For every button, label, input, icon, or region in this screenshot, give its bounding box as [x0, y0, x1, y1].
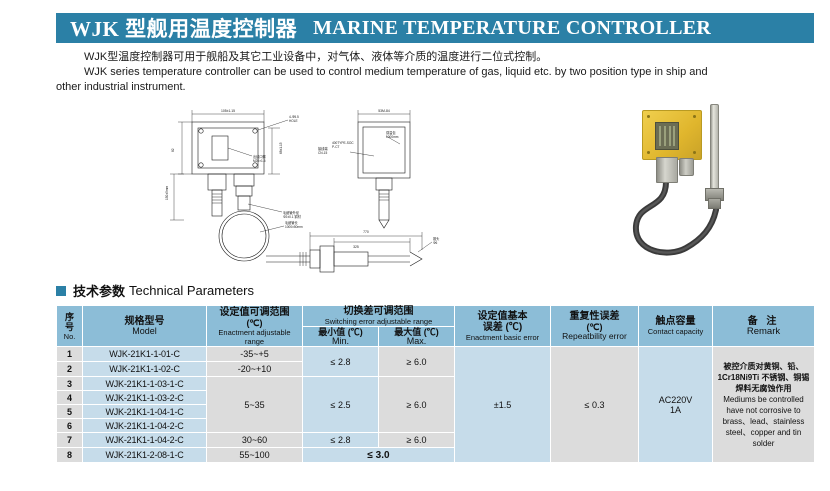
cell-set-range: 30~60: [207, 433, 303, 448]
dimension-drawing: 105±1.15 53M-84 325 770 4-Φ5.5HOLE 出线口螺M…: [160, 100, 490, 275]
cell-no: 6: [57, 419, 83, 433]
temperature-probe: [710, 104, 719, 192]
cell-set-range: 5~35: [207, 377, 303, 433]
table-row: 1 WJK-21K1-1-01-C -35~+5 ≤ 2.8 ≥ 6.0 ±1.…: [57, 347, 815, 362]
description-line-en-2: other industrial instrument.: [56, 80, 820, 95]
cable-gland: [679, 158, 694, 176]
section-heading-en: Technical Parameters: [129, 283, 254, 298]
section-heading: 技术参数 Technical Parameters: [56, 281, 254, 300]
figures-area: 105±1.15 53M-84 325 770 4-Φ5.5HOLE 出线口螺M…: [56, 100, 820, 275]
cell-model: WJK-21K1-1-02-C: [83, 362, 207, 377]
cell-no: 8: [57, 448, 83, 463]
cell-switch-max: ≥ 6.0: [379, 347, 455, 377]
svg-text:82: 82: [171, 148, 175, 152]
header-switch-max: 最大值 (℃) Max.: [379, 327, 455, 347]
svg-text:P-CT: P-CT: [332, 145, 339, 149]
page-title-en: MARINE TEMPERATURE CONTROLLER: [313, 17, 711, 40]
cell-switch-min: ≤ 2.5: [303, 377, 379, 433]
cell-contact-capacity: AC220V 1A: [639, 347, 713, 463]
cell-no: 2: [57, 362, 83, 377]
header-no: 序 号 No.: [57, 306, 83, 347]
cell-no: 7: [57, 433, 83, 448]
cell-switch-min: ≤ 2.8: [303, 347, 379, 377]
svg-text:150±5mm: 150±5mm: [165, 186, 169, 200]
cell-model: WJK-21K1-1-03-2-C: [83, 391, 207, 405]
housing-window: [655, 122, 679, 150]
page-title-cn: WJK 型舰用温度控制器: [70, 13, 297, 43]
svg-text:HOLE: HOLE: [289, 119, 298, 123]
header-switch-min: 最小值 (℃) Min.: [303, 327, 379, 347]
cell-model: WJK-21K1-1-04-1-C: [83, 405, 207, 419]
cell-switch-max: ≥ 6.0: [379, 377, 455, 433]
header-remark: 备 注 Remark: [713, 306, 815, 347]
cell-model: WJK-21K1-1-01-C: [83, 347, 207, 362]
table-header-row-1: 序 号 No. 规格型号 Model 设定值可调范围 (℃) Enactment…: [57, 306, 815, 327]
svg-text:Φ2±0.1 铜材: Φ2±0.1 铜材: [283, 214, 302, 219]
product-photo: [616, 102, 766, 274]
cell-basic-error: ±1.5: [455, 347, 551, 463]
description-line-cn: WJK型温度控制器可用于舰船及其它工业设备中，对气体、液体等介质的温度进行二位式…: [56, 50, 820, 65]
svg-text:CN-15: CN-15: [318, 151, 327, 155]
section-heading-cn: 技术参数: [73, 281, 125, 300]
svg-text:325: 325: [353, 245, 359, 249]
cell-no: 1: [57, 347, 83, 362]
cell-switch-max: ≥ 6.0: [379, 433, 455, 448]
cell-set-range: 55~100: [207, 448, 303, 463]
svg-text:770: 770: [363, 230, 369, 234]
svg-text:1000mm: 1000mm: [386, 135, 399, 139]
page-title-banner: WJK 型舰用温度控制器 MARINE TEMPERATURE CONTROLL…: [56, 13, 814, 43]
header-repeatability: 重复性误差 (℃) Repeatbility error: [551, 306, 639, 347]
header-switching-error: 切换差可调范围 Switching error adjustable range: [303, 306, 455, 327]
header-contact-capacity: 触点容量 Contact capacity: [639, 306, 713, 347]
cell-set-range: -35~+5: [207, 347, 303, 362]
bullet-square-icon: [56, 286, 66, 296]
header-basic-error: 设定值基本 误差 (℃) Enactment basic error: [455, 306, 551, 347]
cell-remark: 被控介质对黄铜、铅、1Cr18Ni9Ti 不锈钢、铜锡焊料无腐蚀作用 Mediu…: [713, 347, 815, 463]
probe-nut-lower: [708, 198, 721, 209]
svg-text:Φ6: Φ6: [433, 241, 438, 245]
svg-text:105±1.15: 105±1.15: [221, 109, 235, 113]
cell-no: 5: [57, 405, 83, 419]
cell-no: 4: [57, 391, 83, 405]
housing-neck: [656, 157, 678, 183]
cell-switch-min: ≤ 2.8: [303, 433, 379, 448]
cell-model: WJK-21K1-1-04-2-C: [83, 419, 207, 433]
cell-set-range: -20~+10: [207, 362, 303, 377]
cell-model: WJK-21K1-1-03-1-C: [83, 377, 207, 391]
technical-parameters-table: 序 号 No. 规格型号 Model 设定值可调范围 (℃) Enactment…: [56, 305, 815, 463]
description-line-en-1: WJK series temperature controller can be…: [56, 65, 820, 80]
cell-model: WJK-21K1-2-08-1-C: [83, 448, 207, 463]
header-model: 规格型号 Model: [83, 306, 207, 347]
cell-repeatability: ≤ 0.3: [551, 347, 639, 463]
cell-model: WJK-21K1-1-04-2-C: [83, 433, 207, 448]
svg-text:68±1.15: 68±1.15: [279, 142, 283, 154]
cell-switch-merged: ≤ 3.0: [303, 448, 455, 463]
svg-text:M20×1.5: M20×1.5: [253, 159, 266, 163]
svg-text:53M-84: 53M-84: [378, 109, 390, 113]
controller-housing: [642, 110, 702, 160]
header-set-range: 设定值可调范围 (℃) Enactment adjustable range: [207, 306, 303, 347]
svg-text:1000±50mm: 1000±50mm: [285, 225, 303, 229]
cell-no: 3: [57, 377, 83, 391]
product-description: WJK型温度控制器可用于舰船及其它工业设备中，对气体、液体等介质的温度进行二位式…: [56, 50, 820, 95]
